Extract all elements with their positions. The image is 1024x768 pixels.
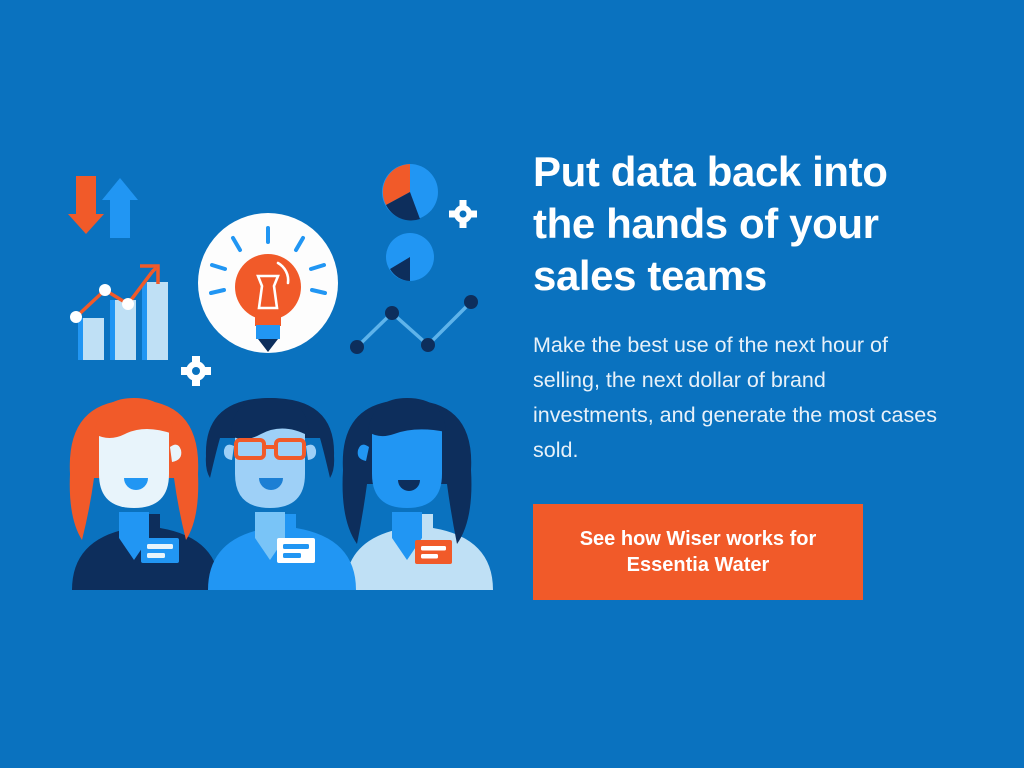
page-title: Put data back into the hands of your sal…	[533, 146, 953, 302]
up-arrow-icon	[102, 178, 138, 238]
badge-white	[277, 538, 315, 563]
pie-chart-icon-bottom	[386, 233, 434, 281]
badge-blue	[141, 538, 179, 563]
person-long-hair	[343, 398, 493, 590]
promo-banner: Put data back into the hands of your sal…	[0, 0, 1024, 768]
lightbulb-icon	[198, 213, 338, 353]
person-orange-hair	[70, 398, 220, 590]
illustration-artwork	[0, 0, 512, 768]
gear-icon-right	[449, 200, 477, 228]
cta-button[interactable]: See how Wiser works for Essentia Water	[533, 504, 863, 601]
content-column: Put data back into the hands of your sal…	[533, 146, 953, 600]
down-arrow-icon	[68, 176, 104, 234]
badge-orange	[415, 540, 452, 564]
gear-icon-left	[181, 356, 211, 386]
person-glasses	[206, 398, 356, 590]
line-chart-icon	[350, 295, 478, 354]
pie-chart-icon-top	[382, 164, 438, 220]
bar-chart-icon	[78, 282, 168, 360]
description-text: Make the best use of the next hour of se…	[533, 328, 945, 467]
